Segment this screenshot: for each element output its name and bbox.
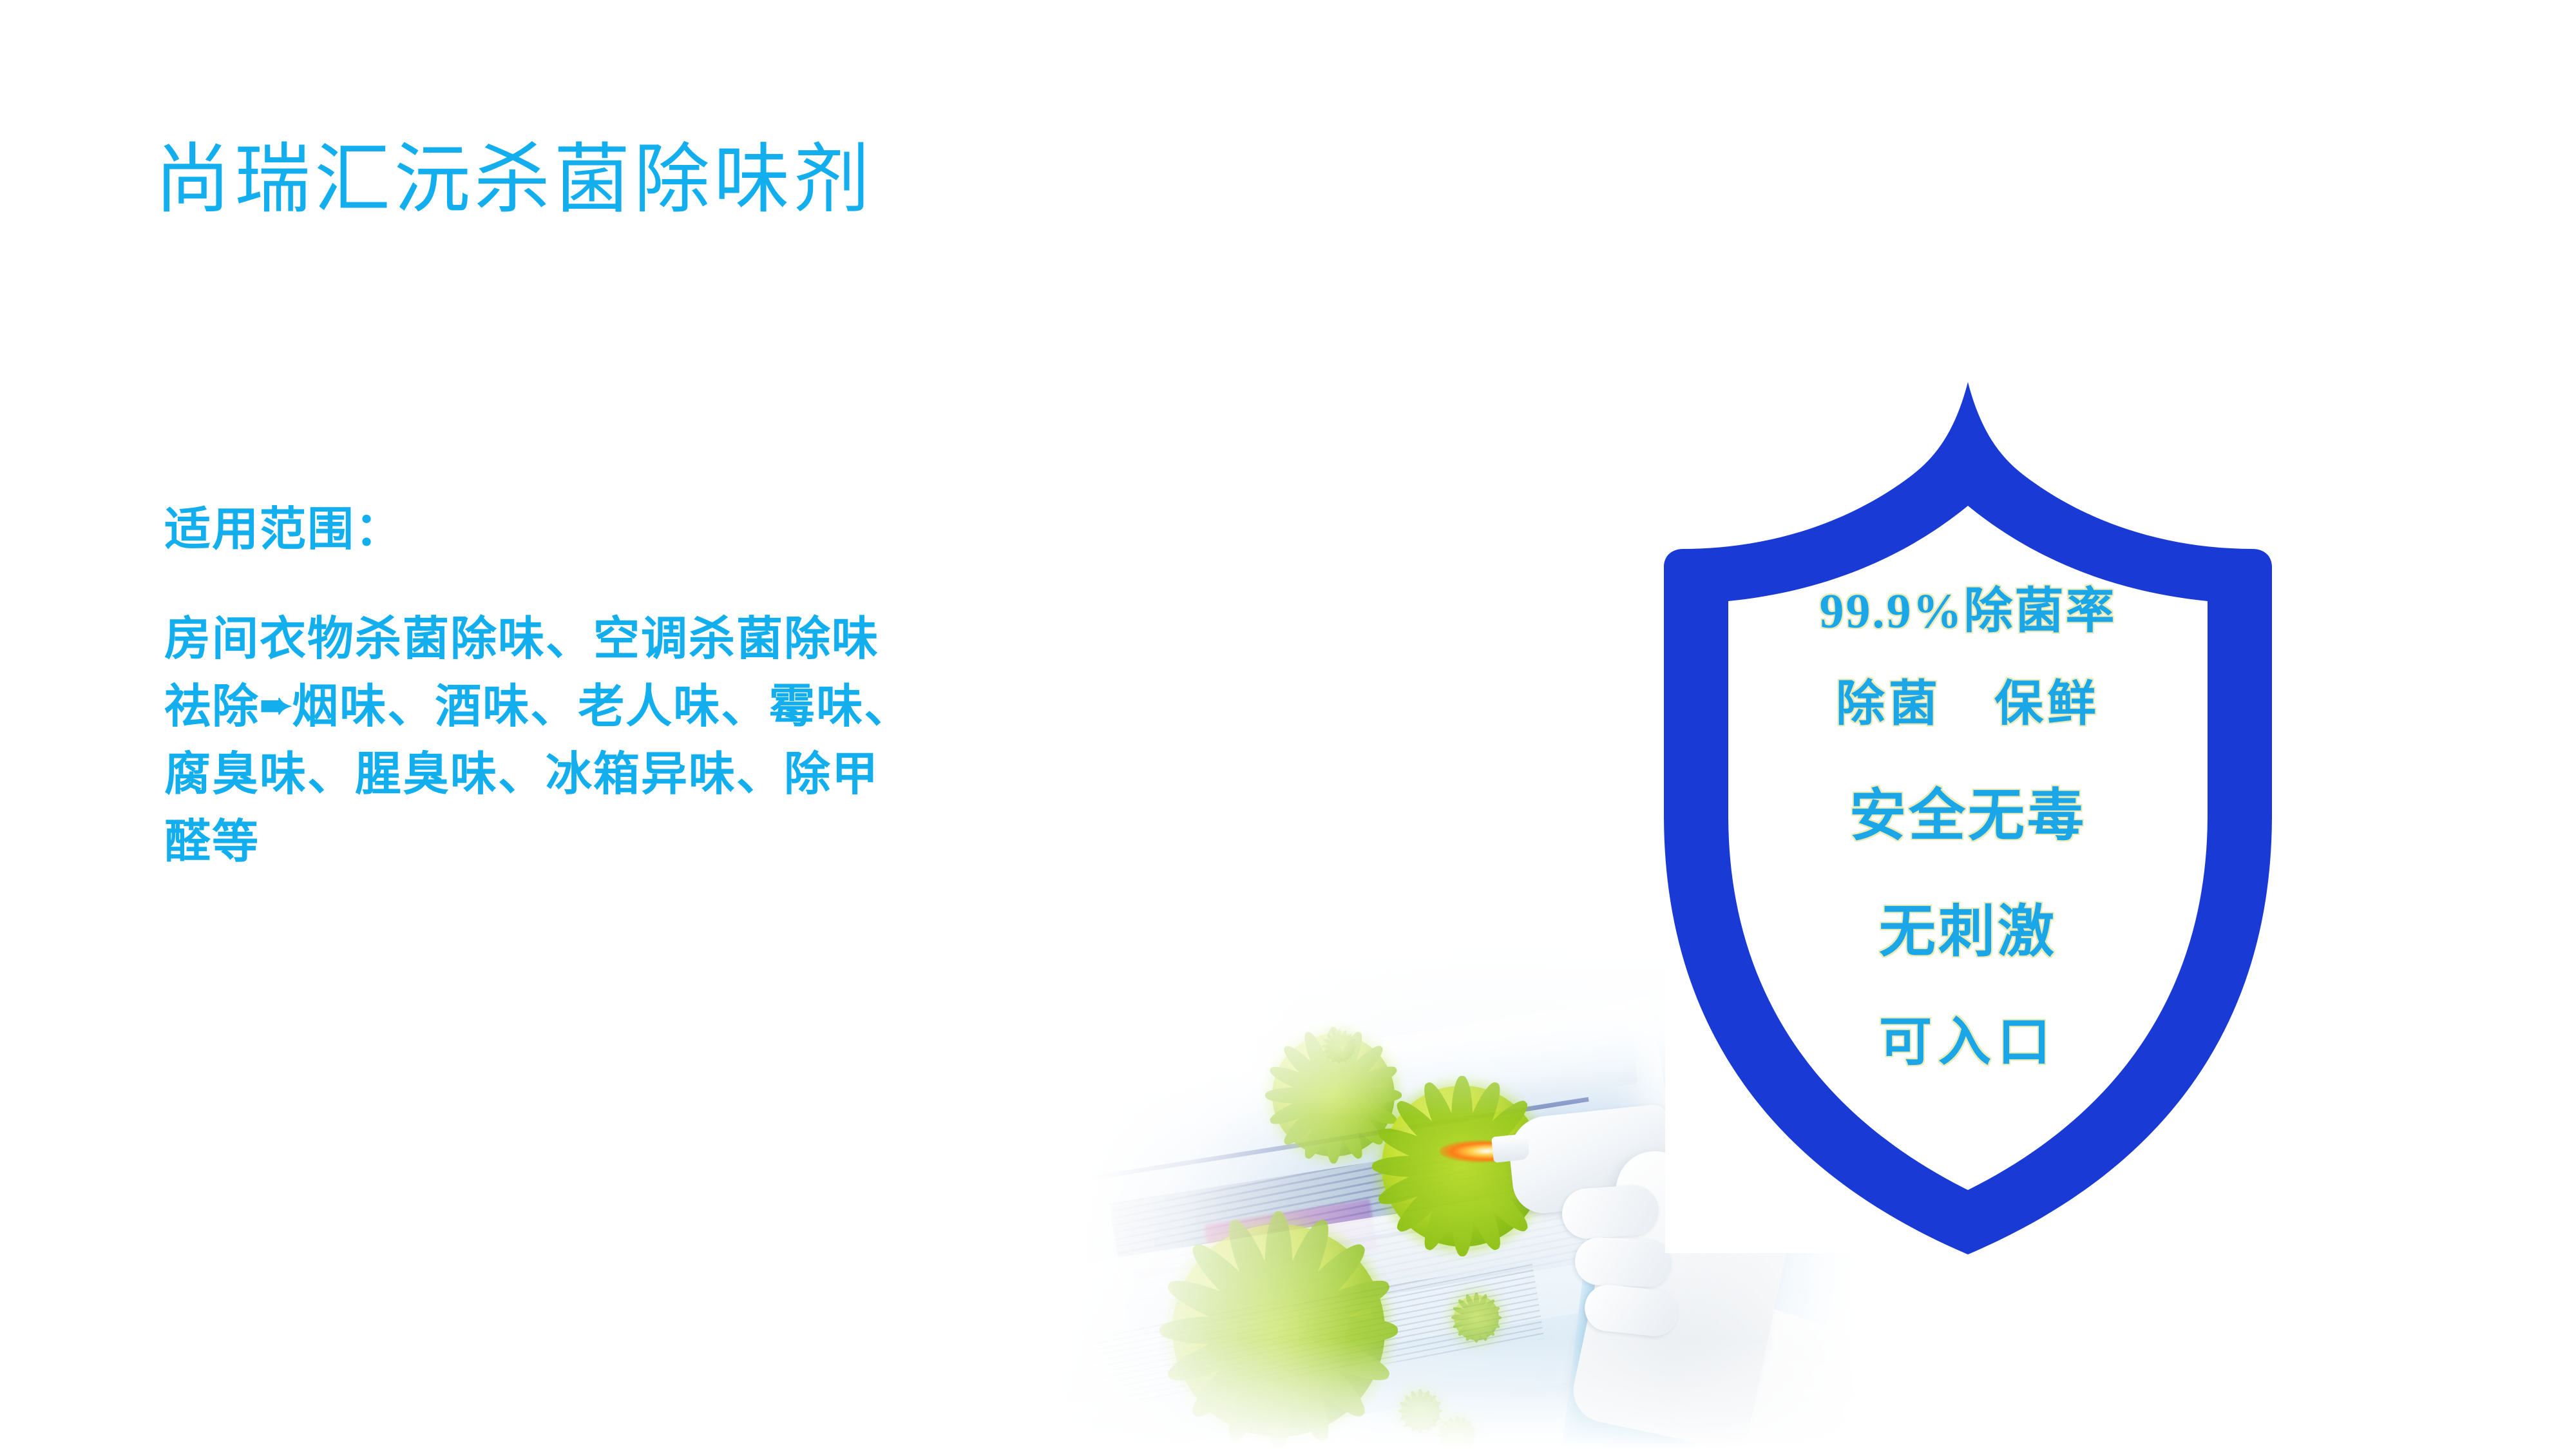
scope-line-4: 醛等 xyxy=(164,809,911,876)
applicable-scope-heading: 适用范围： xyxy=(164,496,911,564)
shield-claims: 99.9%除菌率 除菌 保鲜 安全无毒 无刺激 可入口 xyxy=(1701,573,2235,1094)
shield-claim-nonirritating: 无刺激 xyxy=(1701,875,2235,991)
applicable-scope-text: 适用范围： 房间衣物杀菌除味、空调杀菌除味 祛除➨烟味、酒味、老人味、霉味、 腐… xyxy=(164,496,911,876)
germ-icon xyxy=(1454,1295,1499,1340)
slide-canvas: 尚瑞汇沅杀菌除味剂 xyxy=(0,0,2576,1449)
shield-claim-ingestible: 可入口 xyxy=(1701,991,2235,1094)
shield-claim-nontoxic: 安全无毒 xyxy=(1701,759,2235,875)
scope-line-2: 祛除➨烟味、酒味、老人味、霉味、 xyxy=(164,673,911,741)
photo-fade-bottom xyxy=(995,1339,1858,1449)
spray-nozzle-tip xyxy=(1491,1133,1530,1163)
shield-claim-sterilize-fresh: 除菌 保鲜 xyxy=(1701,649,2235,759)
glove-finger xyxy=(1560,1184,1660,1240)
shield-claim-germ-rate: 99.9%除菌率 xyxy=(1701,573,2235,649)
scope-line-2-prefix: 祛除 xyxy=(164,681,260,733)
page-title: 尚瑞汇沅杀菌除味剂 xyxy=(155,139,873,222)
scope-line-2-rest: 烟味、酒味、老人味、霉味、 xyxy=(292,681,911,733)
scope-line-3: 腐臭味、腥臭味、冰箱异味、除甲 xyxy=(164,741,911,809)
scope-line-1: 房间衣物杀菌除味、空调杀菌除味 xyxy=(164,606,911,673)
arrow-icon: ➨ xyxy=(260,672,292,740)
